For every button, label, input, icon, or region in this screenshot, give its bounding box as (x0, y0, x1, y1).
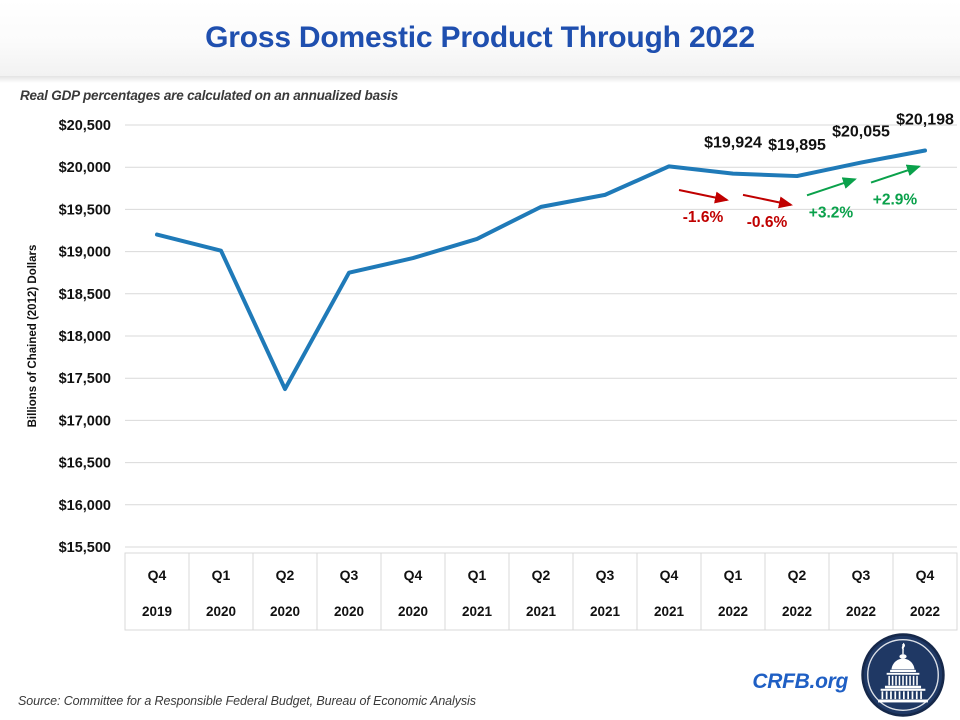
chart-subtitle: Real GDP percentages are calculated on a… (20, 88, 398, 103)
y-gridlines: $20,500$20,000$19,500$19,000$18,500$18,0… (59, 118, 957, 556)
x-axis-year-label: 2021 (654, 604, 685, 619)
y-axis-tick-label: $18,000 (59, 329, 111, 345)
annotation-arrow (871, 167, 919, 183)
annotation-arrow (743, 195, 791, 205)
x-axis-quarter-label: Q1 (724, 567, 743, 583)
x-axis-quarter-label: Q2 (276, 567, 295, 583)
x-axis-quarter-label: Q1 (212, 567, 231, 583)
y-axis-tick-label: $18,500 (59, 287, 111, 303)
annotation-arrow (679, 190, 727, 200)
annotation-arrow (807, 179, 855, 195)
x-axis-table: Q42019Q12020Q22020Q32020Q42020Q12021Q220… (125, 553, 957, 630)
x-axis-quarter-label: Q1 (468, 567, 487, 583)
x-axis-quarter-label: Q2 (788, 567, 807, 583)
x-axis-year-label: 2019 (142, 604, 172, 619)
x-axis-year-label: 2022 (910, 604, 940, 619)
x-axis-year-label: 2022 (782, 604, 812, 619)
chart-header: Gross Domestic Product Through 2022 (0, 0, 960, 76)
y-axis-tick-label: $17,000 (59, 413, 111, 429)
brand-label: CRFB.org (752, 670, 848, 694)
y-axis-tick-label: $15,500 (59, 540, 111, 556)
x-axis-year-label: 2021 (590, 604, 621, 619)
y-axis-tick-label: $19,500 (59, 202, 111, 218)
x-axis-year-label: 2020 (206, 604, 236, 619)
annotation-label: -1.6% (683, 209, 724, 226)
y-axis-tick-label: $20,500 (59, 118, 111, 134)
data-point-label: $20,055 (832, 124, 890, 141)
x-axis-year-label: 2020 (334, 604, 364, 619)
x-axis-year-label: 2020 (270, 604, 300, 619)
page-title: Gross Domestic Product Through 2022 (205, 21, 755, 55)
annotation-label: +3.2% (809, 204, 854, 221)
x-axis-quarter-label: Q2 (532, 567, 551, 583)
x-axis-year-label: 2022 (846, 604, 876, 619)
x-axis-quarter-label: Q4 (404, 567, 423, 583)
data-point-label: $19,924 (704, 135, 762, 152)
x-axis-quarter-label: Q4 (916, 567, 935, 583)
x-axis-quarter-label: Q3 (852, 567, 871, 583)
x-axis-quarter-label: Q4 (660, 567, 679, 583)
y-axis-title: Billions of Chained (2012) Dollars (27, 245, 39, 428)
y-axis-tick-label: $17,500 (59, 371, 111, 387)
chart-canvas: $20,500$20,000$19,500$19,000$18,500$18,0… (0, 110, 960, 640)
x-axis-quarter-label: Q3 (596, 567, 615, 583)
capitol-dome-icon (860, 632, 946, 718)
y-axis-tick-label: $19,000 (59, 245, 111, 261)
x-axis-year-label: 2021 (462, 604, 493, 619)
data-point-label: $20,198 (896, 111, 954, 128)
x-axis-year-label: 2022 (718, 604, 748, 619)
x-axis-quarter-label: Q3 (340, 567, 359, 583)
header-divider (0, 76, 960, 83)
annotation-label: -0.6% (747, 214, 788, 231)
annotation-label: +2.9% (873, 192, 918, 209)
gdp-series-line (157, 150, 925, 389)
x-axis-quarter-label: Q4 (148, 567, 167, 583)
x-axis-year-label: 2020 (398, 604, 428, 619)
x-axis-year-label: 2021 (526, 604, 557, 619)
y-axis-tick-label: $20,000 (59, 160, 111, 176)
data-labels: $19,924$19,895$20,055$20,198 (704, 111, 954, 154)
y-axis-tick-label: $16,500 (59, 456, 111, 472)
source-note: Source: Committee for a Responsible Fede… (18, 694, 476, 708)
y-axis-tick-label: $16,000 (59, 498, 111, 514)
data-point-label: $19,895 (768, 137, 826, 154)
gdp-line-chart: $20,500$20,000$19,500$19,000$18,500$18,0… (0, 110, 960, 640)
